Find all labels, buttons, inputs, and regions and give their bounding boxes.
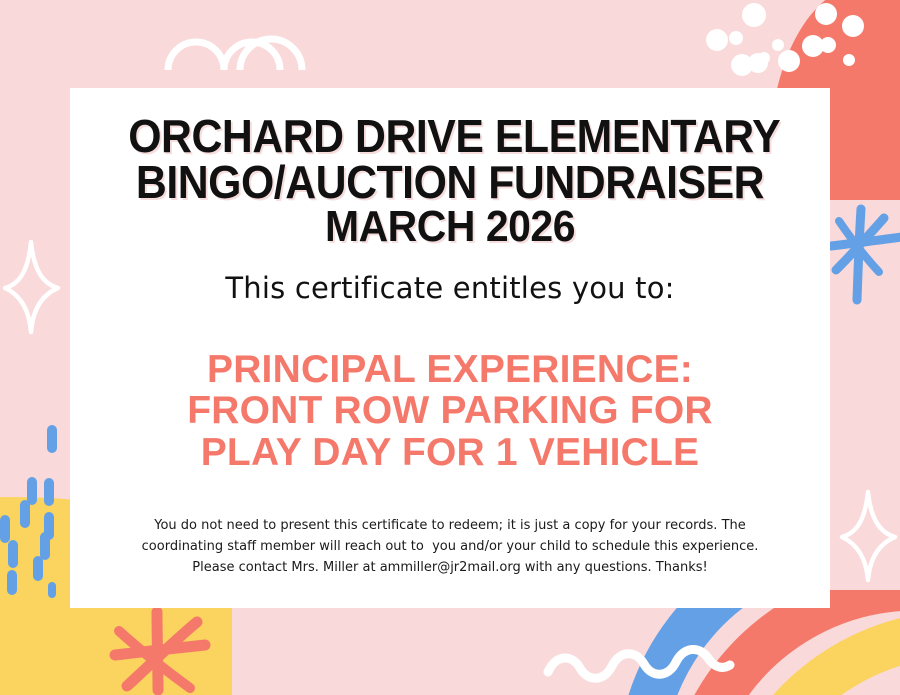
certificate-page: ORCHARD DRIVE ELEMENTARY BINGO/AUCTION F… (0, 0, 900, 695)
right-starburst-icon (831, 209, 900, 300)
redemption-instructions: You do not need to present this certific… (130, 515, 770, 578)
award-line-2: FRONT ROW PARKING FOR (104, 390, 796, 432)
award-line-3: PLAY DAY FOR 1 VEHICLE (104, 432, 796, 474)
certificate-card: ORCHARD DRIVE ELEMENTARY BINGO/AUCTION F… (70, 88, 830, 608)
bottom-left-starburst-icon (115, 612, 205, 690)
award-line-1: PRINCIPAL EXPERIENCE: (104, 349, 796, 391)
title-line-1: ORCHARD DRIVE ELEMENTARY (128, 114, 772, 160)
left-sparkle-icon (5, 242, 58, 332)
bottom-left-blue-dashes (0, 425, 57, 598)
certificate-subtitle: This certificate entitles you to: (225, 271, 674, 305)
title-line-3: MARCH 2026 (128, 205, 772, 249)
top-scallop-arches (168, 39, 302, 70)
bottom-squiggle (548, 649, 730, 678)
certificate-title: ORCHARD DRIVE ELEMENTARY BINGO/AUCTION F… (104, 114, 796, 249)
award-description: PRINCIPAL EXPERIENCE: FRONT ROW PARKING … (104, 349, 796, 474)
top-right-confetti-dots (706, 3, 864, 76)
right-sparkle-icon (842, 492, 895, 580)
title-line-2: BINGO/AUCTION FUNDRAISER (128, 160, 772, 206)
